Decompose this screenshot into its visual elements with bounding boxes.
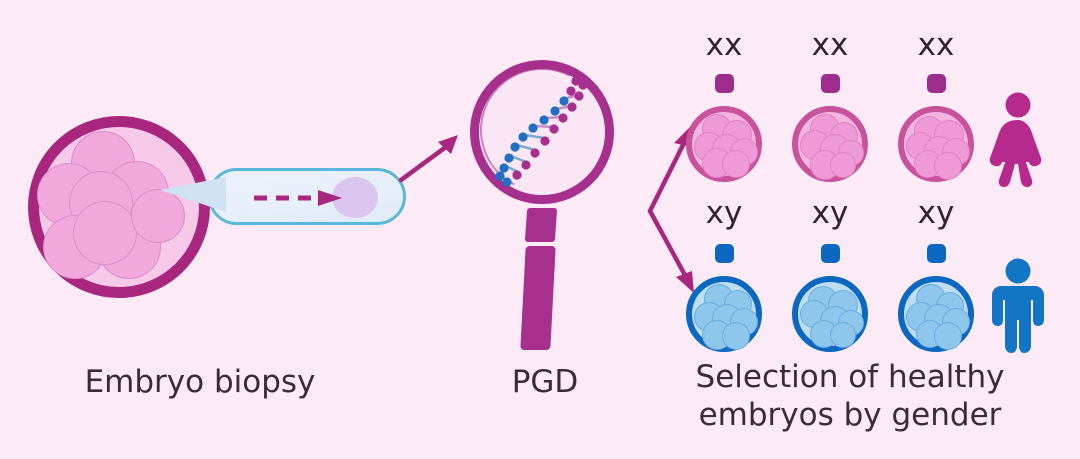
chromosome-label: xx — [790, 30, 870, 61]
chromosome-label: xy — [896, 198, 976, 229]
chromosome-label: xx — [684, 30, 764, 61]
chromosome-label: xx — [896, 30, 976, 61]
caption-selection: Selection of healthy embryos by gender — [655, 358, 1045, 434]
blastomere — [73, 201, 137, 265]
chromosome-label: xy — [684, 198, 764, 229]
chromosome-marker — [715, 74, 734, 93]
dna-helix-icon — [484, 72, 602, 190]
embryo-male[interactable] — [686, 276, 762, 352]
dashed-arrow-right-icon — [252, 189, 348, 207]
embryo-female[interactable] — [686, 106, 762, 182]
chromosome-marker — [821, 244, 840, 263]
embryo-male[interactable] — [898, 276, 974, 352]
embryo-female[interactable] — [898, 106, 974, 182]
caption-embryo-biopsy: Embryo biopsy — [40, 363, 360, 401]
magnifier-handle — [520, 246, 555, 350]
embryo-male[interactable] — [792, 276, 868, 352]
caption-pgd: PGD — [455, 363, 635, 401]
magnifying-glass — [470, 60, 620, 350]
male-pictogram-icon — [985, 258, 1051, 354]
magnifier-neck — [525, 208, 557, 242]
arrow-biopsy-to-pgd-icon — [398, 126, 468, 188]
biopsy-pipette — [160, 163, 412, 231]
chromosome-marker — [927, 74, 946, 93]
female-pictogram-icon — [985, 92, 1051, 188]
chromosome-marker — [927, 244, 946, 263]
chromosome-marker — [821, 74, 840, 93]
infographic-canvas: xx xx — [0, 0, 1080, 459]
chromosome-label: xy — [790, 198, 870, 229]
pipette-tip-outline — [160, 169, 226, 204]
embryo-female[interactable] — [792, 106, 868, 182]
chromosome-marker — [715, 244, 734, 263]
